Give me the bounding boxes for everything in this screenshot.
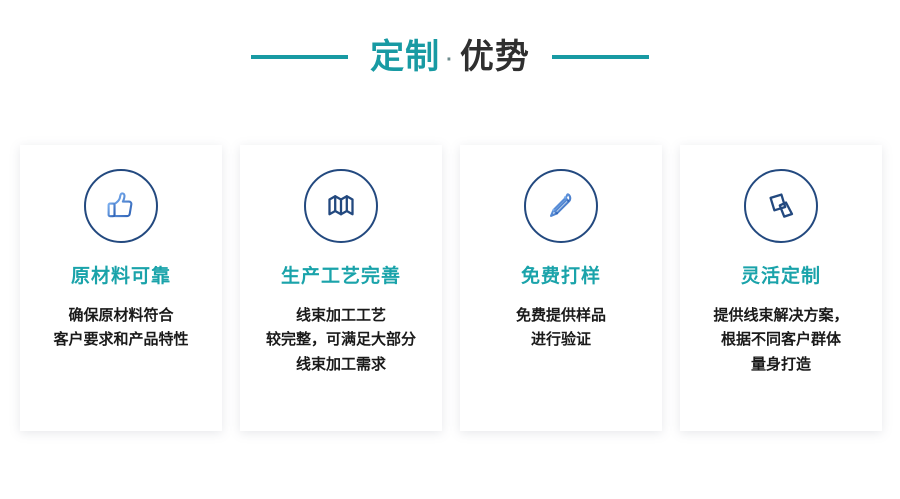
customization-advantages-section: 定制 · 优势 xyxy=(0,0,900,499)
feature-card[interactable]: 生产工艺完善 线束加工工艺 较完整，可满足大部分 线束加工需求 xyxy=(240,145,442,431)
folded-map-icon xyxy=(304,169,378,243)
heading-primary-text: 定制 xyxy=(370,40,440,74)
feature-card-description: 提供线束解决方案， 根据不同客户群体 量身打造 xyxy=(705,304,856,377)
feature-card-description: 线束加工工艺 较完整，可满足大部分 线束加工需求 xyxy=(258,304,424,377)
section-heading: 定制 · 优势 xyxy=(0,26,900,88)
heading-separator-dot: · xyxy=(440,50,460,70)
feature-card-title: 原材料可靠 xyxy=(71,267,171,286)
heading-text: 定制 · 优势 xyxy=(370,40,530,74)
pencil-icon xyxy=(524,169,598,243)
feature-card-description: 免费提供样品 进行验证 xyxy=(508,304,614,353)
feature-card-list: 原材料可靠 确保原材料符合 客户要求和产品特性 生产工艺完善 线束加工工艺 较完… xyxy=(20,145,882,431)
feature-card[interactable]: 原材料可靠 确保原材料符合 客户要求和产品特性 xyxy=(20,145,222,431)
feature-card-title: 免费打样 xyxy=(521,267,601,286)
feature-card-title: 生产工艺完善 xyxy=(281,267,401,286)
feature-card-title: 灵活定制 xyxy=(741,267,821,286)
heading-rule-left-icon xyxy=(251,55,348,59)
thumbs-up-icon xyxy=(84,169,158,243)
heading-rule-right-icon xyxy=(552,55,649,59)
feature-card[interactable]: 灵活定制 提供线束解决方案， 根据不同客户群体 量身打造 xyxy=(680,145,882,431)
feature-card[interactable]: 免费打样 免费提供样品 进行验证 xyxy=(460,145,662,431)
stacked-cards-icon xyxy=(744,169,818,243)
heading-secondary-text: 优势 xyxy=(460,40,530,74)
feature-card-description: 确保原材料符合 客户要求和产品特性 xyxy=(45,304,196,353)
